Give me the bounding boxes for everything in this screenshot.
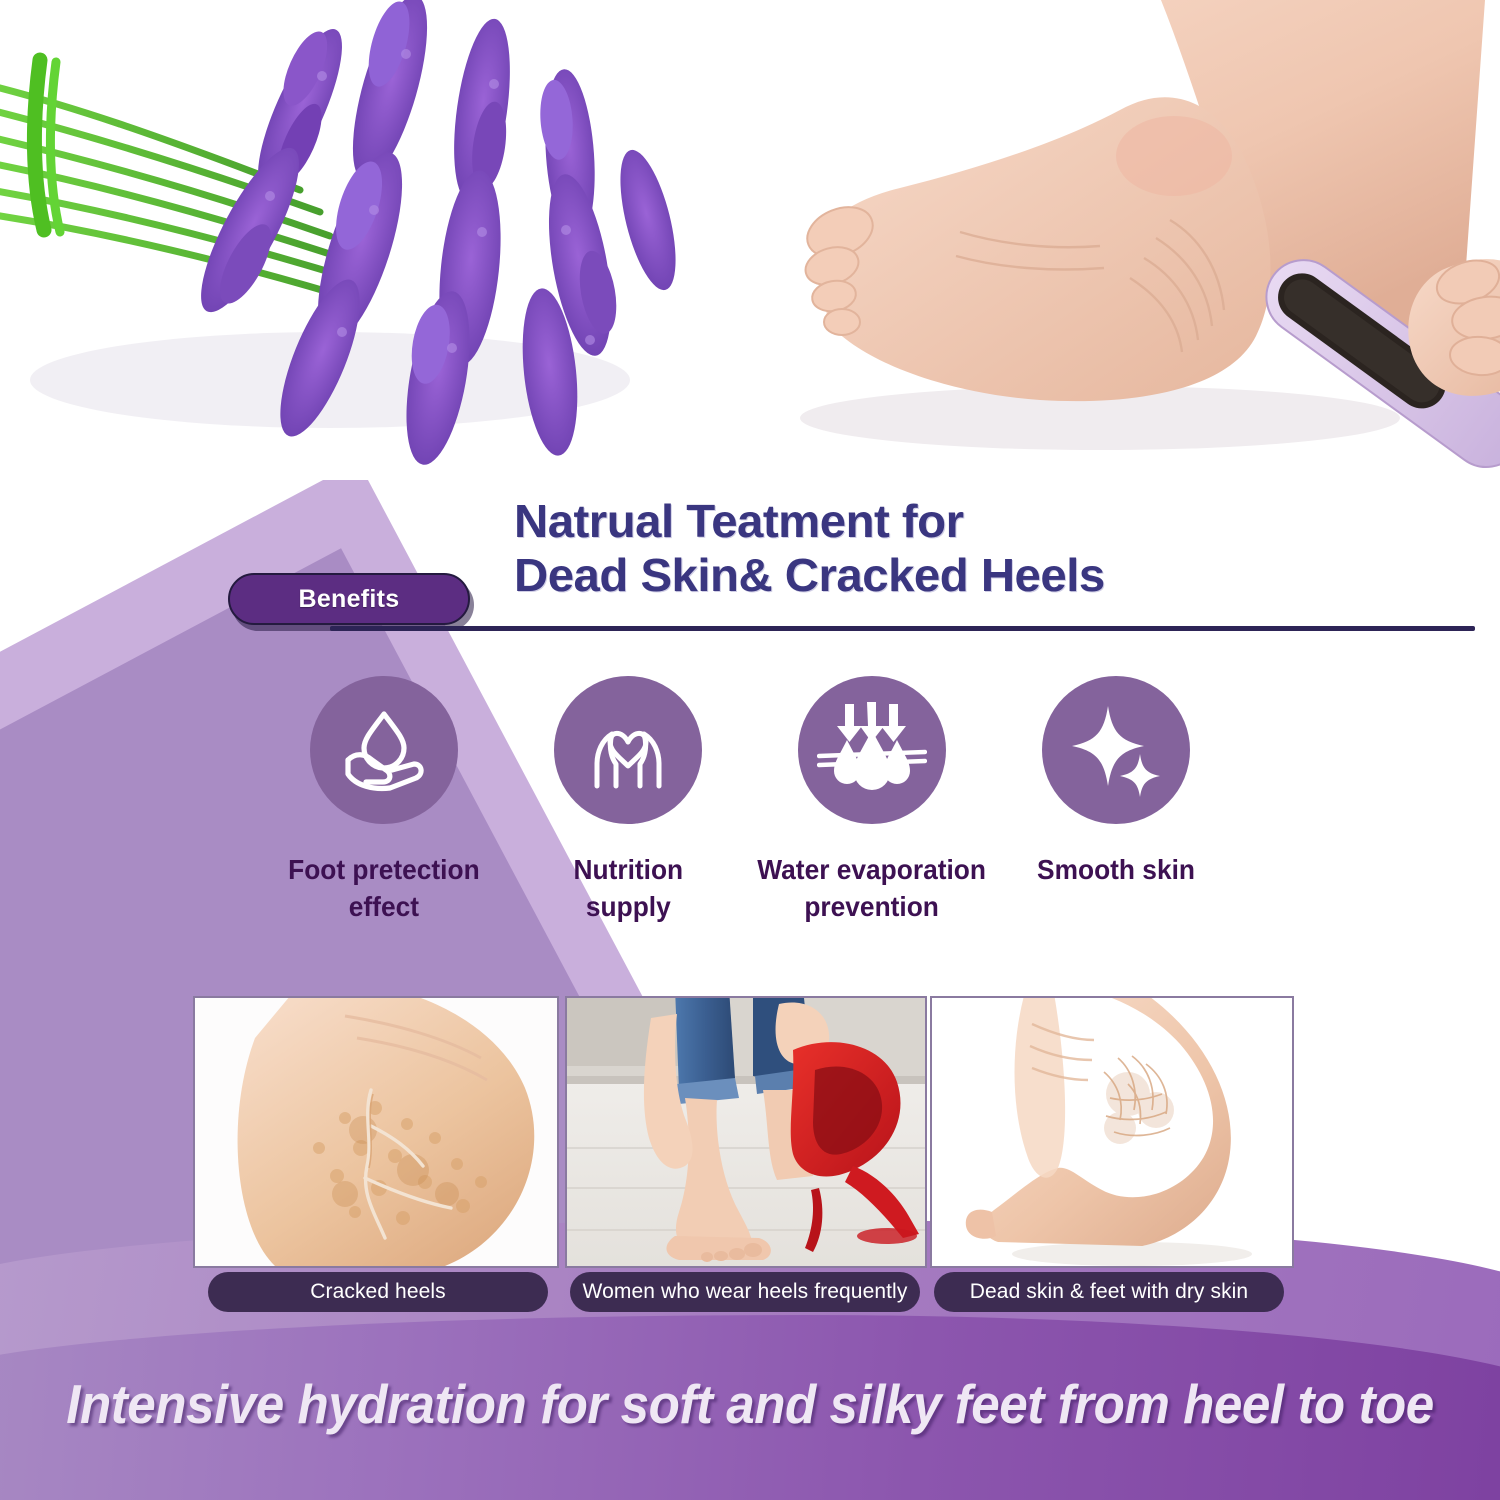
gallery-caption-text: Dead skin & feet with dry skin: [970, 1280, 1248, 1304]
benefit-label: Foot pretection effect: [288, 852, 480, 926]
foot-with-file-photo: [700, 0, 1500, 510]
benefit-label: Water evaporation prevention: [758, 852, 987, 926]
gallery-caption: Cracked heels: [208, 1272, 548, 1312]
page-title-line1: Natrual Teatment for: [514, 494, 1500, 548]
benefit-item-water-evaporation: Water evaporation prevention: [750, 676, 994, 926]
gallery-photo-cracked-heels: [193, 996, 559, 1268]
hand-water-drop-icon: [334, 698, 434, 803]
benefit-item-foot-protection: Foot pretection effect: [262, 676, 506, 926]
footer-tagline: Intensive hydration for soft and silky f…: [53, 1372, 1448, 1436]
benefit-label: Smooth skin: [1037, 852, 1195, 889]
benefit-icon-circle: [554, 676, 702, 824]
sparkle-icon: [1066, 698, 1166, 803]
gallery-caption: Women who wear heels frequently: [570, 1272, 920, 1312]
benefit-icon-circle: [798, 676, 946, 824]
gallery-caption: Dead skin & feet with dry skin: [934, 1272, 1284, 1312]
title-divider: [330, 626, 1475, 631]
product-infographic: Benefits Natrual Teatment for Dead Skin&…: [0, 0, 1500, 1500]
heart-in-hands-icon: [578, 698, 678, 803]
page-title-line2: Dead Skin& Cracked Heels: [514, 548, 1500, 602]
benefit-item-smooth-skin: Smooth skin: [994, 676, 1238, 889]
benefit-icon-circle: [310, 676, 458, 824]
page-title: Natrual Teatment for Dead Skin& Cracked …: [514, 494, 1500, 603]
gallery-photo-dry-skin-heel: [930, 996, 1294, 1268]
benefit-icon-circle: [1042, 676, 1190, 824]
benefit-label: Nutrition supply: [573, 852, 683, 926]
benefits-badge: Benefits: [228, 573, 470, 625]
benefits-list: Foot pretection effect Nutrition supply: [262, 676, 1252, 966]
gallery-caption-text: Women who wear heels frequently: [583, 1280, 908, 1304]
gallery-caption-text: Cracked heels: [310, 1280, 446, 1304]
lavender-bouquet-photo: [0, 0, 700, 480]
gallery-photo-woman-heels: [565, 996, 927, 1268]
benefit-item-nutrition: Nutrition supply: [506, 676, 750, 926]
water-drops-down-arrows-icon: [817, 696, 927, 805]
benefits-badge-label: Benefits: [298, 585, 399, 614]
